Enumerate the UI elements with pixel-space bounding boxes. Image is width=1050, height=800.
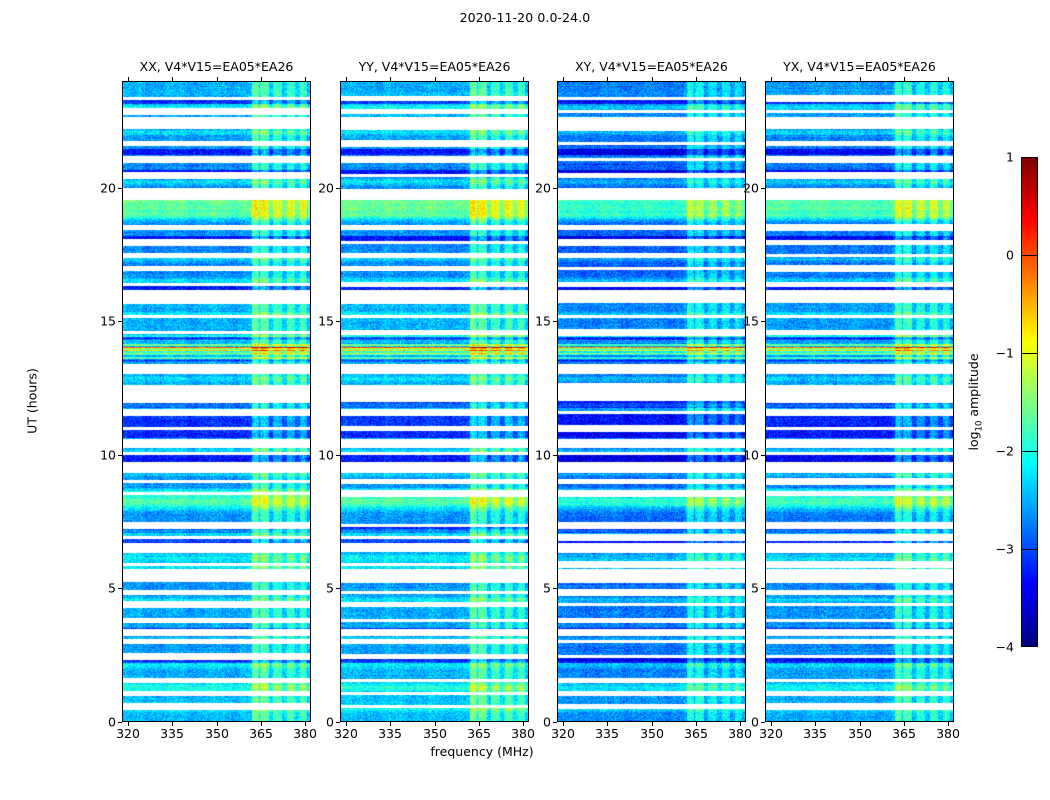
x-tick-top bbox=[435, 77, 436, 81]
x-tick-label: 380 bbox=[728, 726, 752, 741]
x-tick bbox=[479, 722, 480, 726]
y-tick bbox=[761, 321, 765, 322]
y-tick-label: 0 bbox=[108, 715, 116, 730]
x-tick-label: 335 bbox=[803, 726, 827, 741]
y-tick bbox=[553, 722, 557, 723]
x-tick bbox=[948, 722, 949, 726]
waterfall-image bbox=[766, 82, 953, 721]
x-tick-label: 350 bbox=[640, 726, 664, 741]
x-tick-top bbox=[860, 77, 861, 81]
x-tick bbox=[860, 722, 861, 726]
x-tick bbox=[815, 722, 816, 726]
x-tick-top bbox=[172, 77, 173, 81]
y-tick-label: 0 bbox=[326, 715, 334, 730]
x-tick-label: 350 bbox=[423, 726, 447, 741]
x-tick-top bbox=[815, 77, 816, 81]
waterfall-image bbox=[558, 82, 745, 721]
y-tick bbox=[118, 588, 122, 589]
y-tick bbox=[761, 722, 765, 723]
x-tick-label: 320 bbox=[334, 726, 358, 741]
y-axis-label: UT (hours) bbox=[25, 368, 40, 434]
y-tick bbox=[118, 321, 122, 322]
x-tick-top bbox=[479, 77, 480, 81]
x-tick-top bbox=[346, 77, 347, 81]
x-tick bbox=[172, 722, 173, 726]
x-tick bbox=[305, 722, 306, 726]
y-tick bbox=[118, 722, 122, 723]
y-tick-label: 20 bbox=[100, 181, 116, 196]
y-tick-label: 0 bbox=[751, 715, 759, 730]
y-tick-label: 5 bbox=[326, 581, 334, 596]
waterfall-image bbox=[341, 82, 528, 721]
colorbar-tick-label: 0 bbox=[1006, 248, 1014, 263]
x-tick-top bbox=[217, 77, 218, 81]
x-tick-top bbox=[305, 77, 306, 81]
y-tick bbox=[553, 588, 557, 589]
y-tick-label: 5 bbox=[543, 581, 551, 596]
y-tick-label: 0 bbox=[543, 715, 551, 730]
x-tick-top bbox=[740, 77, 741, 81]
colorbar-tick bbox=[1021, 451, 1038, 452]
x-tick-label: 335 bbox=[595, 726, 619, 741]
x-tick bbox=[261, 722, 262, 726]
figure-canvas: 2020-11-20 0.0-24.0 XX, V4*V15=EA05*EA26… bbox=[0, 0, 1050, 800]
x-tick-label: 320 bbox=[116, 726, 140, 741]
y-tick-label: 5 bbox=[751, 581, 759, 596]
y-tick bbox=[336, 722, 340, 723]
x-tick bbox=[523, 722, 524, 726]
colorbar-tick-label: −1 bbox=[996, 346, 1014, 361]
x-tick-top bbox=[948, 77, 949, 81]
colorbar-label: log10 amplitude bbox=[966, 353, 985, 450]
x-tick-label: 320 bbox=[551, 726, 575, 741]
colorbar bbox=[1021, 157, 1038, 647]
colorbar-tick bbox=[1021, 549, 1038, 550]
x-axis-label-text: frequency (MHz) bbox=[430, 744, 533, 759]
colorbar-tick bbox=[1021, 255, 1038, 256]
x-tick-label: 350 bbox=[205, 726, 229, 741]
waterfall-panel-xy bbox=[557, 81, 746, 722]
waterfall-image bbox=[123, 82, 310, 721]
x-tick-label: 365 bbox=[892, 726, 916, 741]
x-tick-top bbox=[523, 77, 524, 81]
x-tick-top bbox=[771, 77, 772, 81]
x-tick-label: 335 bbox=[378, 726, 402, 741]
x-tick bbox=[607, 722, 608, 726]
colorbar-tick-label: −2 bbox=[996, 444, 1014, 459]
y-tick bbox=[761, 188, 765, 189]
y-tick-label: 20 bbox=[743, 181, 759, 196]
y-tick bbox=[336, 188, 340, 189]
y-tick-label: 15 bbox=[318, 314, 334, 329]
y-tick-label: 15 bbox=[100, 314, 116, 329]
x-tick-label: 365 bbox=[684, 726, 708, 741]
y-tick bbox=[761, 588, 765, 589]
colorbar-tick-label: −3 bbox=[996, 542, 1014, 557]
figure-suptitle: 2020-11-20 0.0-24.0 bbox=[0, 10, 1050, 25]
panel-title-xy: XY, V4*V15=EA05*EA26 bbox=[557, 59, 746, 74]
y-tick-label: 20 bbox=[318, 181, 334, 196]
x-tick bbox=[346, 722, 347, 726]
x-tick bbox=[696, 722, 697, 726]
x-tick-top bbox=[563, 77, 564, 81]
colorbar-label-sub: 10 bbox=[974, 421, 984, 432]
x-tick-label: 365 bbox=[467, 726, 491, 741]
colorbar-label-main: log bbox=[966, 431, 981, 450]
y-tick bbox=[553, 321, 557, 322]
colorbar-tick-label: −4 bbox=[996, 640, 1014, 655]
y-tick bbox=[336, 455, 340, 456]
x-tick-label: 335 bbox=[160, 726, 184, 741]
x-tick bbox=[435, 722, 436, 726]
x-tick-label: 365 bbox=[249, 726, 273, 741]
x-tick-top bbox=[652, 77, 653, 81]
y-tick-label: 10 bbox=[535, 448, 551, 463]
x-tick-top bbox=[261, 77, 262, 81]
x-tick bbox=[740, 722, 741, 726]
x-tick-label: 380 bbox=[936, 726, 960, 741]
y-tick-label: 5 bbox=[108, 581, 116, 596]
y-tick-label: 15 bbox=[743, 314, 759, 329]
y-tick-label: 10 bbox=[743, 448, 759, 463]
x-tick-label: 380 bbox=[511, 726, 535, 741]
x-tick bbox=[652, 722, 653, 726]
x-tick bbox=[563, 722, 564, 726]
x-tick-top bbox=[390, 77, 391, 81]
x-tick-top bbox=[607, 77, 608, 81]
x-tick-label: 320 bbox=[759, 726, 783, 741]
x-tick-top bbox=[696, 77, 697, 81]
y-tick bbox=[118, 188, 122, 189]
y-tick bbox=[336, 588, 340, 589]
x-tick-top bbox=[904, 77, 905, 81]
x-tick bbox=[390, 722, 391, 726]
panel-title-yx: YX, V4*V15=EA05*EA26 bbox=[765, 59, 954, 74]
waterfall-panel-xx bbox=[122, 81, 311, 722]
y-tick bbox=[553, 188, 557, 189]
x-tick-label: 350 bbox=[848, 726, 872, 741]
panel-title-yy: YY, V4*V15=EA05*EA26 bbox=[340, 59, 529, 74]
x-axis-label: frequency (MHz) bbox=[0, 744, 1050, 759]
x-tick bbox=[904, 722, 905, 726]
y-tick-label: 10 bbox=[318, 448, 334, 463]
y-tick-label: 20 bbox=[535, 181, 551, 196]
colorbar-label-tail: amplitude bbox=[966, 353, 981, 420]
y-tick bbox=[553, 455, 557, 456]
x-tick-top bbox=[128, 77, 129, 81]
waterfall-panel-yy bbox=[340, 81, 529, 722]
x-tick bbox=[217, 722, 218, 726]
panel-title-xx: XX, V4*V15=EA05*EA26 bbox=[122, 59, 311, 74]
y-tick-label: 15 bbox=[535, 314, 551, 329]
waterfall-panel-yx bbox=[765, 81, 954, 722]
colorbar-tick bbox=[1021, 353, 1038, 354]
colorbar-tick-label: 1 bbox=[1006, 150, 1014, 165]
y-tick-label: 10 bbox=[100, 448, 116, 463]
y-tick bbox=[336, 321, 340, 322]
x-tick-label: 380 bbox=[293, 726, 317, 741]
x-tick bbox=[771, 722, 772, 726]
x-tick bbox=[128, 722, 129, 726]
y-tick bbox=[118, 455, 122, 456]
y-tick bbox=[761, 455, 765, 456]
